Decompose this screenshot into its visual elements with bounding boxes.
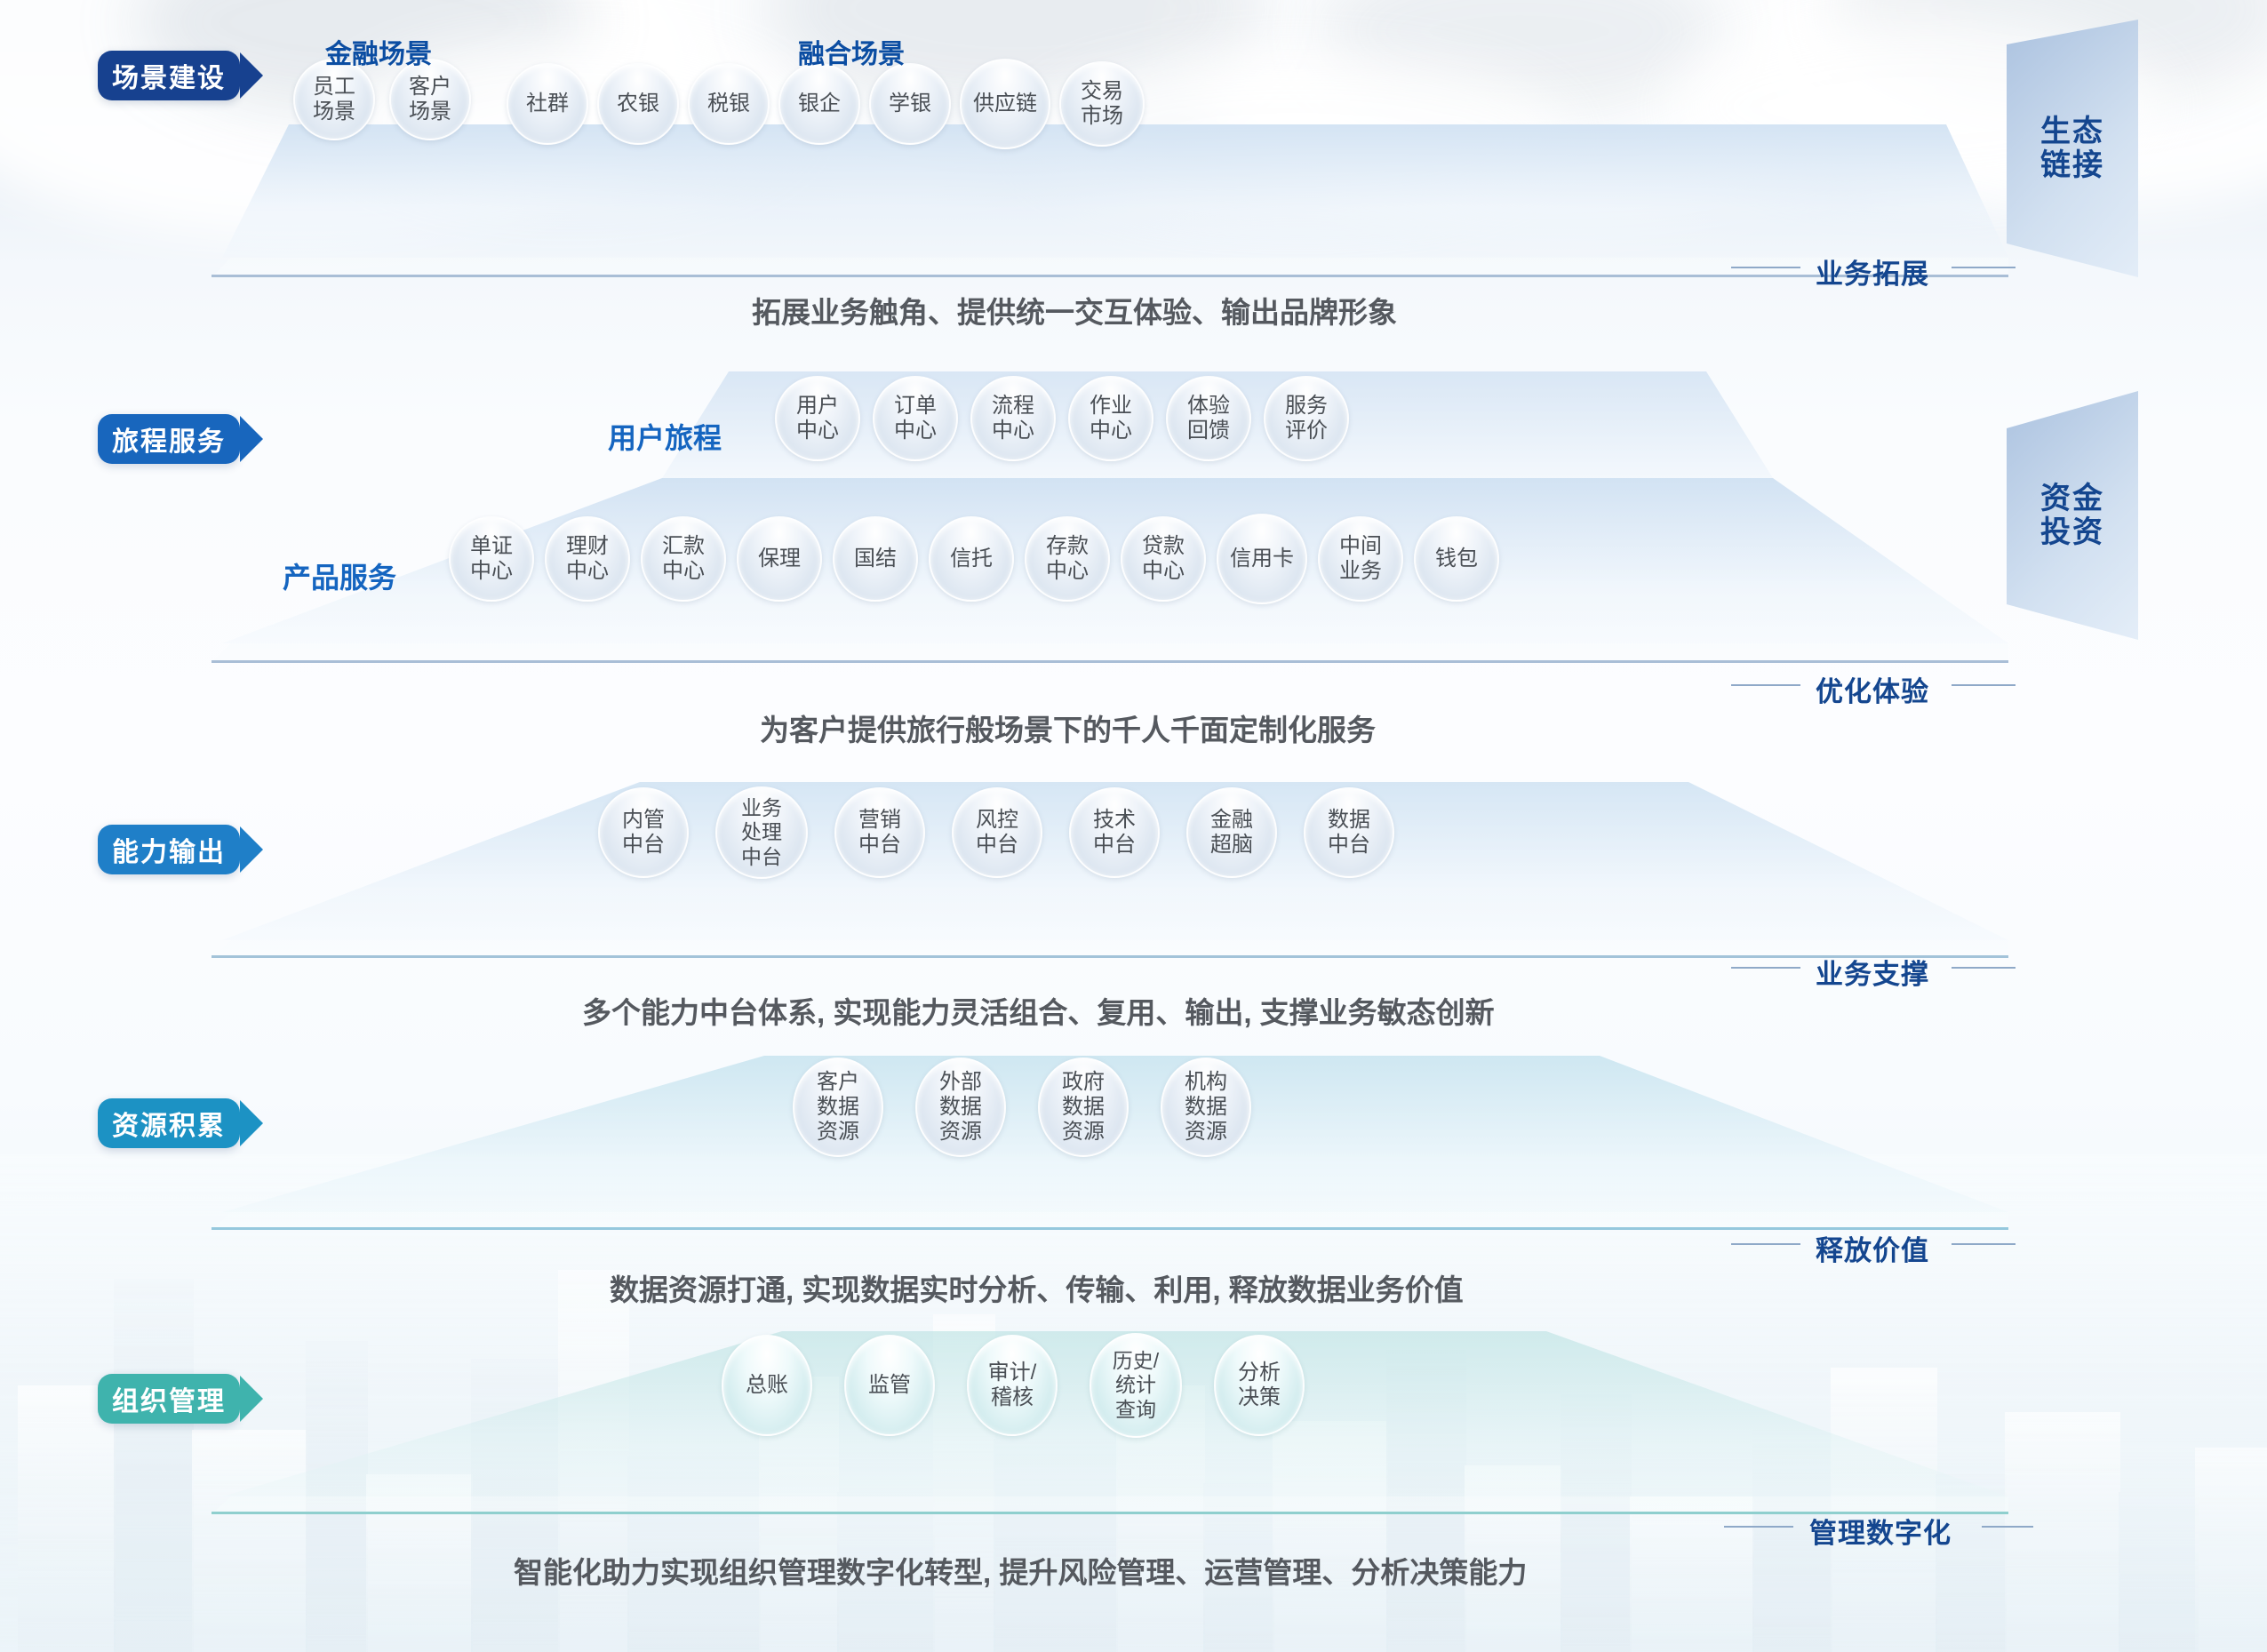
bubble-label-line: 数据 [939,1095,982,1120]
keyword-management-digitalization: 管理数字化 [1809,1511,1952,1551]
side-flag-ecosystem-link: 生态 链接 [2007,20,2138,277]
bubble-business-processing-platform[interactable]: 业务处理中台 [715,786,808,879]
bubble-label: 流程中心 [992,394,1034,444]
bubble-experience-feedback[interactable]: 体验回馈 [1166,376,1251,461]
bubble-internal-mgmt-platform[interactable]: 内管中台 [598,787,689,878]
bubble-marketing-platform[interactable]: 营销中台 [834,787,925,878]
bubble-label-line: 中心 [470,559,513,584]
caption-journey-service: 为客户提供旅行般场景下的千人千面定制化服务 [760,706,1376,749]
keyword-optimize-experience: 优化体验 [1816,669,1929,709]
bubble-label: 保理 [758,547,801,571]
bubble-label-line: 客户 [409,75,451,100]
bubble-label-line: 数据 [1185,1095,1227,1120]
bubble-label-line: 超脑 [1210,833,1253,858]
caption-resource-accumulation: 数据资源打通, 实现数据实时分析、传输、利用, 释放数据业务价值 [610,1266,1464,1309]
bubble-label-line: 内管 [622,808,665,833]
bubble-label: 技术中台 [1093,808,1136,858]
caption-scene-construction: 拓展业务触角、提供统一交互体验、输出品牌形象 [752,289,1397,331]
side-flag-label: 资金 投资 [2007,391,2138,640]
bubble-label: 单证中心 [470,534,513,585]
side-flag-line-2: 投资 [2040,515,2104,549]
bubble-service-evaluation[interactable]: 服务评价 [1264,376,1349,461]
bubble-process-center[interactable]: 流程中心 [970,376,1056,461]
bubble-label-line: 政府 [1062,1070,1105,1095]
bubble-trading-market[interactable]: 交易市场 [1059,61,1145,147]
bubble-label-line: 稽核 [988,1385,1037,1410]
bubble-label-line: 中心 [796,419,839,443]
bubble-label-line: 外部 [939,1070,982,1095]
bubble-institution-data-resource[interactable]: 机构数据资源 [1161,1057,1251,1157]
layer-tag-label: 场景建设 [112,56,226,95]
bubble-label: 历史/统计查询 [1113,1349,1159,1421]
bubble-label-line: 中心 [566,559,609,584]
bubble-label-line: 金融 [1210,808,1253,833]
bubble-label: 营销中台 [858,808,901,858]
keyword-rule-left [1731,967,1800,969]
bubble-deposit-center[interactable]: 存款中心 [1025,516,1110,602]
bubble-label: 机构数据资源 [1185,1070,1227,1145]
bubble-label: 金融超脑 [1210,808,1253,858]
bubble-label: 税银 [707,92,750,116]
keyword-rule-left [1731,684,1800,686]
bubble-label-line: 中台 [976,833,1018,858]
bubble-document-center[interactable]: 单证中心 [449,516,534,602]
bubble-wallet[interactable]: 钱包 [1414,516,1499,602]
keyword-rule-left [1731,1243,1800,1245]
bubble-remittance-center[interactable]: 汇款中心 [641,516,726,602]
bubble-bank-enterprise[interactable]: 银企 [778,63,860,145]
bubble-label: 中间业务 [1339,534,1382,585]
bubble-label-line: 交易 [1081,79,1123,104]
side-flag-line-1: 资金 [2040,482,2104,515]
bubble-label: 体验回馈 [1187,394,1230,444]
bubble-customer-data-resource[interactable]: 客户数据资源 [793,1057,883,1157]
bubble-history-statistics-query[interactable]: 历史/统计查询 [1090,1333,1182,1438]
bubble-label-line: 贷款 [1142,534,1185,559]
bubble-intermediary-business[interactable]: 中间业务 [1318,516,1403,602]
bubble-factoring[interactable]: 保理 [737,516,822,602]
bubble-label-line: 中心 [992,419,1034,443]
bubble-trust[interactable]: 信托 [929,516,1014,602]
bubble-label-line: 营销 [858,808,901,833]
bubble-label-line: 中心 [1046,559,1089,584]
bubble-label: 交易市场 [1081,79,1123,130]
bubble-community[interactable]: 社群 [507,63,588,145]
bubble-label-line: 资源 [1062,1120,1105,1145]
bubble-label-line: 用户 [796,394,839,419]
bubble-label-line: 机构 [1185,1070,1227,1095]
bubble-agri-bank[interactable]: 农银 [597,63,679,145]
keyword-business-support: 业务支撑 [1816,952,1929,992]
bubble-label: 银企 [798,92,841,116]
side-flag-line-2: 链接 [2040,148,2104,182]
keyword-rule-left [1731,267,1800,268]
tag-arrow-icon [240,1100,263,1146]
bubble-label-line: 资源 [817,1120,859,1145]
bubble-label: 内管中台 [622,808,665,858]
layer-tag-organization-management[interactable]: 组织管理 [98,1374,240,1424]
bubble-external-data-resource[interactable]: 外部数据资源 [915,1057,1006,1157]
group-heading-financial-scene: 金融场景 [325,32,432,71]
diagram-canvas: 场景建设 金融场景 融合场景 员工场景 客户场景 社群 农银 税银 银企 学银 … [0,0,2267,1652]
bubble-label-line: 中台 [858,833,901,858]
keyword-business-expansion: 业务拓展 [1816,251,1929,291]
bubble-label-line: 中心 [894,419,937,443]
bubble-label: 客户场景 [409,75,451,125]
bubble-label-line: 中心 [1142,559,1185,584]
bubble-label: 作业中心 [1090,394,1132,444]
bubble-label-line: 员工 [313,75,355,100]
layer-tag-scene-construction[interactable]: 场景建设 [98,51,240,100]
bubble-label-line: 回馈 [1187,419,1230,443]
bubble-intl-settlement[interactable]: 国结 [833,516,918,602]
bubble-label-line: 客户 [817,1070,859,1095]
bubble-label-line: 数据 [1328,808,1370,833]
bubble-label-line: 业务 [1339,559,1382,584]
bubble-loan-center[interactable]: 贷款中心 [1121,516,1206,602]
bubble-label-line: 流程 [992,394,1034,419]
bubble-label: 理财中心 [566,534,609,585]
side-flag-line-1: 生态 [2040,115,2104,148]
keyword-rule-right [1952,1243,2016,1245]
bubble-tax-bank[interactable]: 税银 [688,63,770,145]
bubble-label: 钱包 [1435,547,1478,571]
bubble-label-line: 分析 [1238,1361,1281,1385]
bubble-label-line: 理财 [566,534,609,559]
bubble-label: 政府数据资源 [1062,1070,1105,1145]
bubble-risk-control-platform[interactable]: 风控中台 [952,787,1042,878]
tag-arrow-icon [240,52,263,99]
bubble-label: 审计/稽核 [988,1361,1037,1411]
bubble-label: 农银 [617,92,659,116]
layer-tag-label: 旅程服务 [112,419,226,459]
tag-arrow-icon [240,826,263,873]
bubble-label-line: 历史/ [1113,1349,1159,1373]
bubble-label-line: 中心 [662,559,705,584]
bubble-label-line: 资源 [1185,1120,1227,1145]
bubble-label-line: 风控 [976,808,1018,833]
bubble-label-line: 服务 [1285,394,1328,419]
bubble-analysis-decision[interactable]: 分析决策 [1214,1335,1305,1436]
bubble-label: 客户数据资源 [817,1070,859,1145]
row-label-user-journey: 用户旅程 [608,416,722,457]
bubble-technology-platform[interactable]: 技术中台 [1069,787,1160,878]
layer-tag-capability-output[interactable]: 能力输出 [98,825,240,874]
layer-tag-label: 组织管理 [112,1379,226,1418]
bubble-row-product-service: 单证中心 理财中心 汇款中心 保理 国结 信托 存款中心 贷款中心 信用卡 中间… [449,514,1499,604]
bubble-row-resource-accumulation: 客户数据资源 外部数据资源 政府数据资源 机构数据资源 [793,1057,1251,1157]
bubble-label-line: 汇款 [662,534,705,559]
caption-organization-management: 智能化助力实现组织管理数字化转型, 提升风险管理、运营管理、分析决策能力 [514,1549,1527,1592]
bubble-government-data-resource[interactable]: 政府数据资源 [1038,1057,1129,1157]
bubble-financial-brain[interactable]: 金融超脑 [1186,787,1277,878]
bubble-row-user-journey: 用户中心 订单中心 流程中心 作业中心 体验回馈 服务评价 [775,376,1349,461]
bubble-label: 用户中心 [796,394,839,444]
bubble-label: 国结 [854,547,897,571]
bubble-label: 汇款中心 [662,534,705,585]
bubble-label: 信托 [950,547,993,571]
bubble-label: 总账 [746,1373,788,1398]
bubble-wealth-center[interactable]: 理财中心 [545,516,630,602]
bubble-label-line: 统计 [1113,1373,1159,1397]
bubble-label-line: 数据 [1062,1095,1105,1120]
bubble-label-line: 业务 [741,796,782,820]
layer-tag-label: 能力输出 [112,830,226,869]
bubble-label-line: 场景 [409,100,451,124]
bubble-label-line: 中间 [1339,534,1382,559]
bubble-label: 订单中心 [894,394,937,444]
bubble-label: 监管 [868,1373,911,1398]
bubble-label-line: 评价 [1285,419,1328,443]
bubble-row-organization-management: 总账 监管 审计/稽核 历史/统计查询 分析决策 [722,1333,1305,1438]
bubble-label: 存款中心 [1046,534,1089,585]
bubble-label-line: 体验 [1187,394,1230,419]
bubble-label-line: 中台 [1328,833,1370,858]
caption-capability-output: 多个能力中台体系, 实现能力灵活组合、复用、输出, 支撑业务敏态创新 [582,989,1495,1032]
bubble-label-line: 订单 [894,394,937,419]
bubble-label: 供应链 [973,92,1037,116]
keyword-release-value: 释放价值 [1816,1228,1929,1268]
layer-tag-resource-accumulation[interactable]: 资源积累 [98,1098,240,1148]
keyword-rule-right [1952,684,2016,686]
bubble-label: 数据中台 [1328,808,1370,858]
bubble-label: 风控中台 [976,808,1018,858]
bubble-label-line: 市场 [1081,104,1123,129]
bubble-audit-inspection[interactable]: 审计/稽核 [967,1335,1058,1436]
side-flag-capital-investment: 资金 投资 [2007,391,2138,640]
layer-tag-journey-service[interactable]: 旅程服务 [98,414,240,464]
bubble-label-line: 中台 [1093,833,1136,858]
bubble-label: 服务评价 [1285,394,1328,444]
bubble-label: 员工场景 [313,75,355,125]
bubble-row-capability-output: 内管中台 业务处理中台 营销中台 风控中台 技术中台 金融超脑 数据中台 [598,786,1394,879]
bubble-label-line: 审计/ [988,1361,1037,1385]
keyword-rule-right [1952,267,2016,268]
bubble-label-line: 存款 [1046,534,1089,559]
bubble-school-bank[interactable]: 学银 [869,63,951,145]
tag-arrow-icon [240,416,263,462]
bubble-label-line: 中台 [741,845,782,869]
bubble-label-line: 作业 [1090,394,1132,419]
bubble-label: 业务处理中台 [741,796,782,868]
bubble-user-center[interactable]: 用户中心 [775,376,860,461]
bubble-label: 学银 [889,92,931,116]
keyword-rule-right [1952,967,2016,969]
bubble-label-line: 中心 [1090,419,1132,443]
bubble-label: 社群 [526,92,569,116]
bubble-label-line: 中台 [622,833,665,858]
group-heading-fusion-scene: 融合场景 [798,32,905,71]
bubble-label-line: 数据 [817,1095,859,1120]
bubble-general-ledger[interactable]: 总账 [722,1335,812,1436]
bubble-data-platform[interactable]: 数据中台 [1304,787,1394,878]
keyword-rule-right [1982,1526,2033,1528]
bubble-credit-card[interactable]: 信用卡 [1217,514,1307,604]
row-label-product-service: 产品服务 [283,555,396,596]
bubble-regulation[interactable]: 监管 [844,1335,935,1436]
bubble-label-line: 决策 [1238,1385,1281,1410]
bubble-supply-chain[interactable]: 供应链 [960,59,1050,149]
bubble-operation-center[interactable]: 作业中心 [1068,376,1153,461]
layer-tag-label: 资源积累 [112,1104,226,1143]
bubble-label-line: 单证 [470,534,513,559]
bubble-label: 信用卡 [1230,547,1294,571]
keyword-rule-left [1724,1526,1793,1528]
tag-arrow-icon [240,1376,263,1422]
bubble-label-line: 资源 [939,1120,982,1145]
bubble-row-fusion-scene: 社群 农银 税银 银企 学银 供应链 交易市场 [507,59,1145,149]
bubble-order-center[interactable]: 订单中心 [873,376,958,461]
bubble-label-line: 技术 [1093,808,1136,833]
bubble-label-line: 查询 [1113,1398,1159,1422]
side-flag-label: 生态 链接 [2007,20,2138,277]
bubble-label: 贷款中心 [1142,534,1185,585]
bubble-label-line: 处理 [741,820,782,844]
bubble-label: 外部数据资源 [939,1070,982,1145]
bubble-label-line: 场景 [313,100,355,124]
bubble-label: 分析决策 [1238,1361,1281,1411]
